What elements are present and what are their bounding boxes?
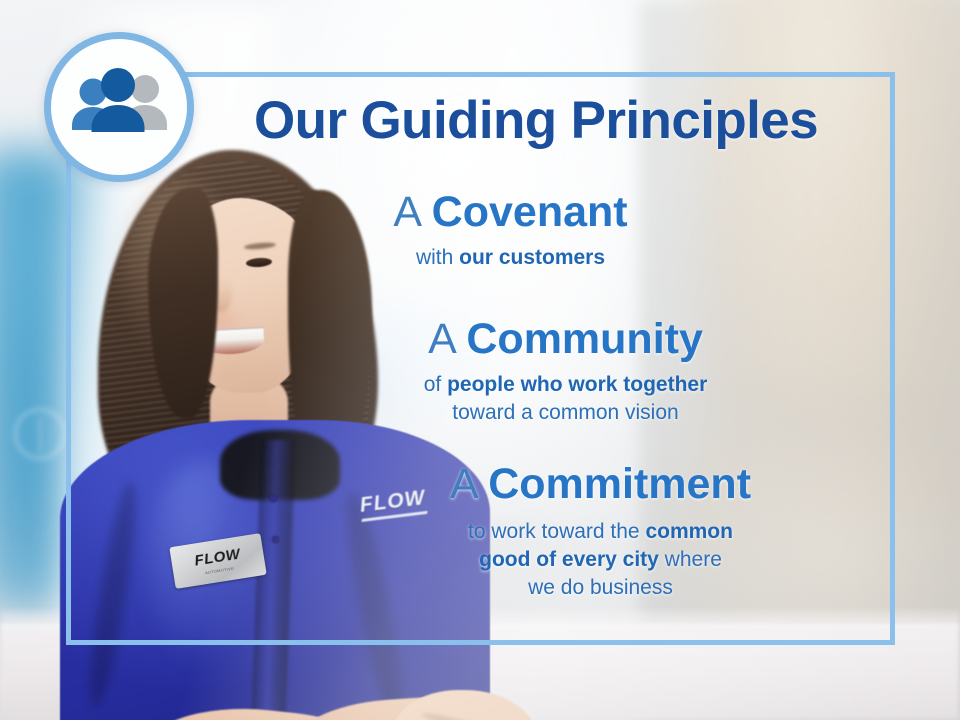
principle-article: A [393, 188, 419, 236]
principle-heading: A Commitment [306, 462, 895, 507]
principle-subtext-line: to work toward the common [306, 518, 895, 546]
subtext-regular: we do business [528, 576, 673, 599]
principle-article: A [450, 460, 476, 508]
principle-subtext-line: we do business [306, 574, 895, 602]
principle-word: Community [466, 315, 703, 363]
principle-commitment: A Commitment to work toward the commongo… [66, 462, 895, 601]
guiding-principles-graphic: FLOW AUTOMOTIVE FLOW [0, 0, 960, 720]
subtext-regular: with [416, 246, 459, 269]
principle-subtext: with our customers [126, 244, 895, 272]
principle-subtext-line: with our customers [126, 244, 895, 272]
principle-heading: A Covenant [126, 190, 895, 235]
principle-subtext-line: toward a common vision [236, 399, 895, 427]
principle-article: A [428, 315, 454, 363]
principle-heading: A Community [236, 317, 895, 362]
subtext-regular: where [659, 548, 722, 571]
principle-word: Covenant [432, 188, 628, 236]
subtext-regular: toward a common vision [452, 401, 678, 424]
principle-subtext-line: good of every city where [306, 546, 895, 574]
subtext-regular: to work toward the [468, 520, 645, 543]
subtext-emphasis: our customers [459, 246, 605, 269]
principle-community: A Community of people who work togethert… [66, 317, 895, 427]
text-content-area: Our Guiding Principles A Covenant with o… [66, 72, 895, 645]
principle-word: Commitment [488, 460, 751, 508]
subtext-emphasis: common [645, 520, 733, 543]
subtext-emphasis: people who work together [447, 373, 707, 396]
principle-subtext: to work toward the commongood of every c… [306, 518, 895, 602]
page-title: Our Guiding Principles [216, 94, 856, 147]
subtext-regular: of [424, 373, 447, 396]
principle-covenant: A Covenant with our customers [66, 190, 895, 272]
vw-logo-blurred [14, 408, 66, 460]
principle-subtext-line: of people who work together [236, 371, 895, 399]
principle-subtext: of people who work togethertoward a comm… [236, 371, 895, 427]
subtext-emphasis: good of every city [479, 548, 659, 571]
